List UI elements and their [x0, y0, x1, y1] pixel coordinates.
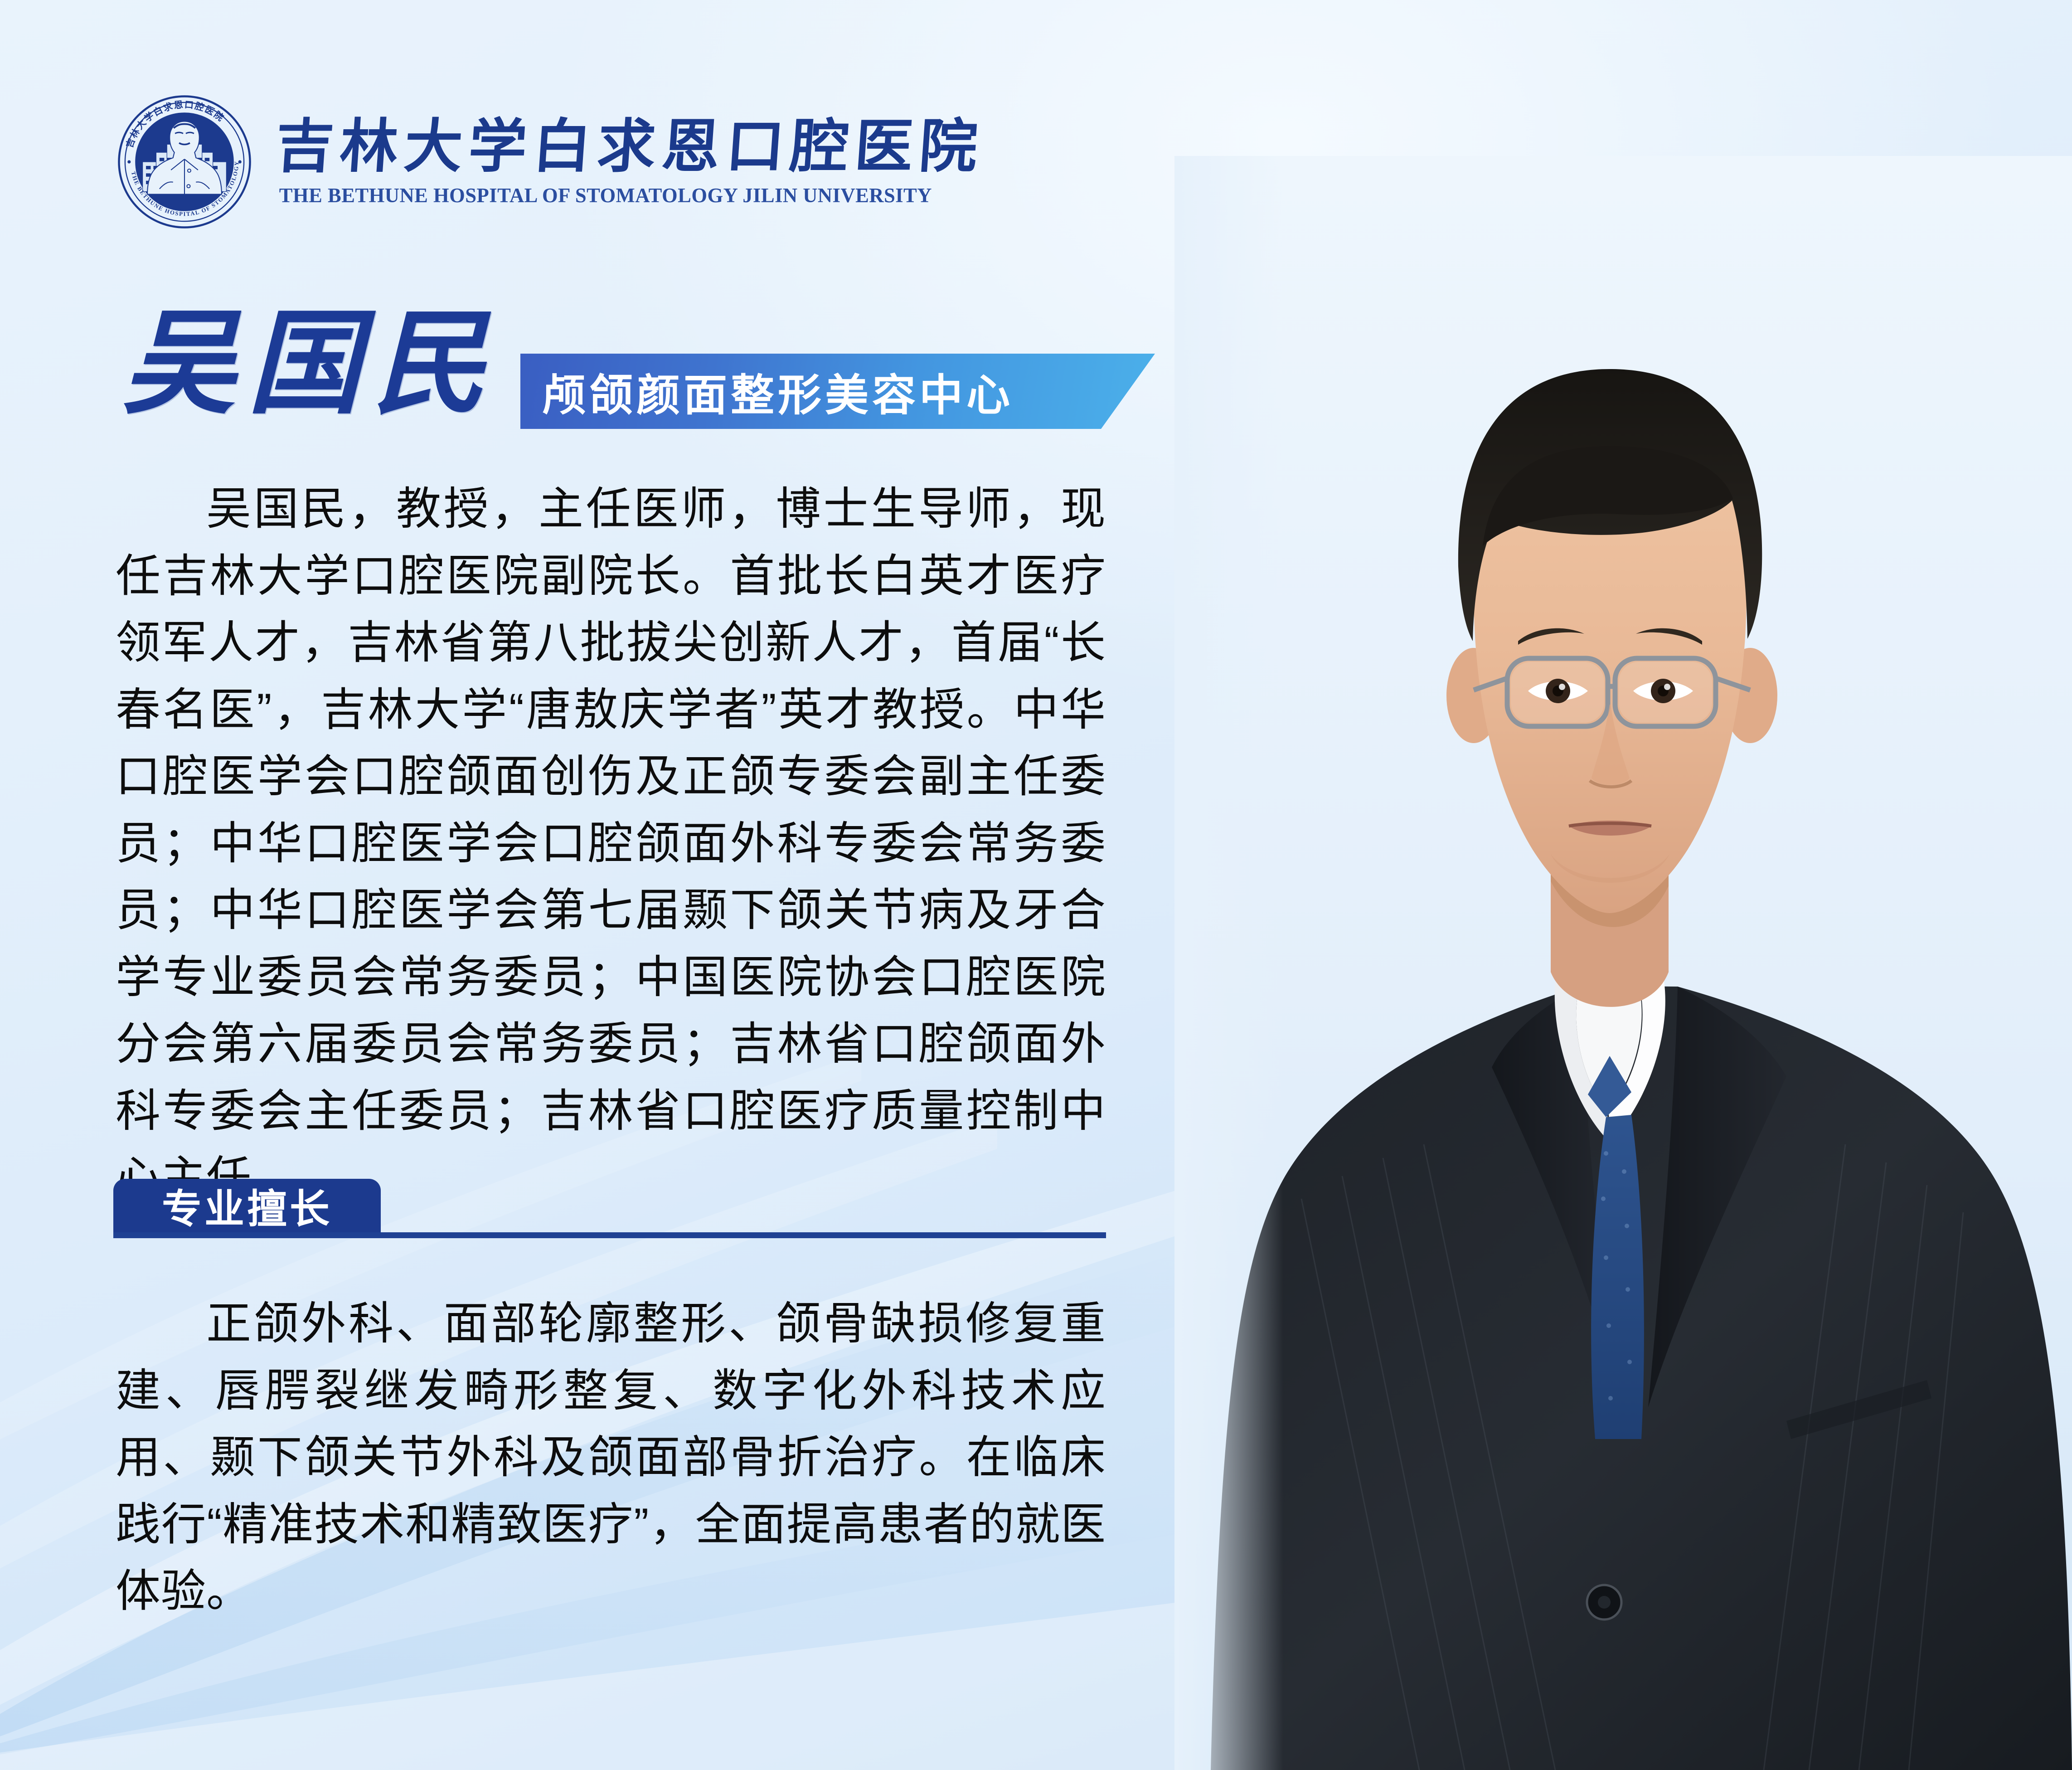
doctor-name-row: 吴国民	[122, 292, 498, 438]
doctor-portrait-photo	[1075, 156, 2072, 1770]
doctor-name: 吴国民	[122, 308, 498, 422]
hospital-name-cn: 吉林大学白求恩口腔医院	[273, 117, 985, 177]
specialty-section-header: 专业擅长	[113, 1179, 1111, 1238]
hospital-logo: 吉林大学白求恩口腔医院 THE BETHUNE HOSPITAL OF STOM…	[117, 94, 984, 229]
bethune-circular-emblem-icon: 吉林大学白求恩口腔医院 THE BETHUNE HOSPITAL OF STOM…	[117, 94, 252, 229]
hospital-name-en: THE BETHUNE HOSPITAL OF STOMATOLOGY JILI…	[279, 184, 980, 207]
doctor-biography: 吴国民，教授，主任医师，博士生导师，现任吉林大学口腔医院副院长。首批长白英才医疗…	[116, 475, 1106, 1211]
specialty-divider-line	[113, 1232, 1106, 1238]
specialty-content: 正颌外科、面部轮廓整形、颌骨缺损修复重建、唇腭裂继发畸形整复、数字化外科技术应用…	[116, 1290, 1106, 1624]
department-banner: 颅颌颜面整形美容中心	[520, 354, 1155, 429]
specialty-badge-label: 专业擅长	[162, 1177, 332, 1235]
doctor-profile-poster: 吉林大学白求恩口腔医院 THE BETHUNE HOSPITAL OF STOM…	[0, 0, 2072, 1770]
department-banner-label: 颅颌颜面整形美容中心	[542, 360, 1014, 423]
specialty-badge: 专业擅长	[113, 1179, 381, 1232]
